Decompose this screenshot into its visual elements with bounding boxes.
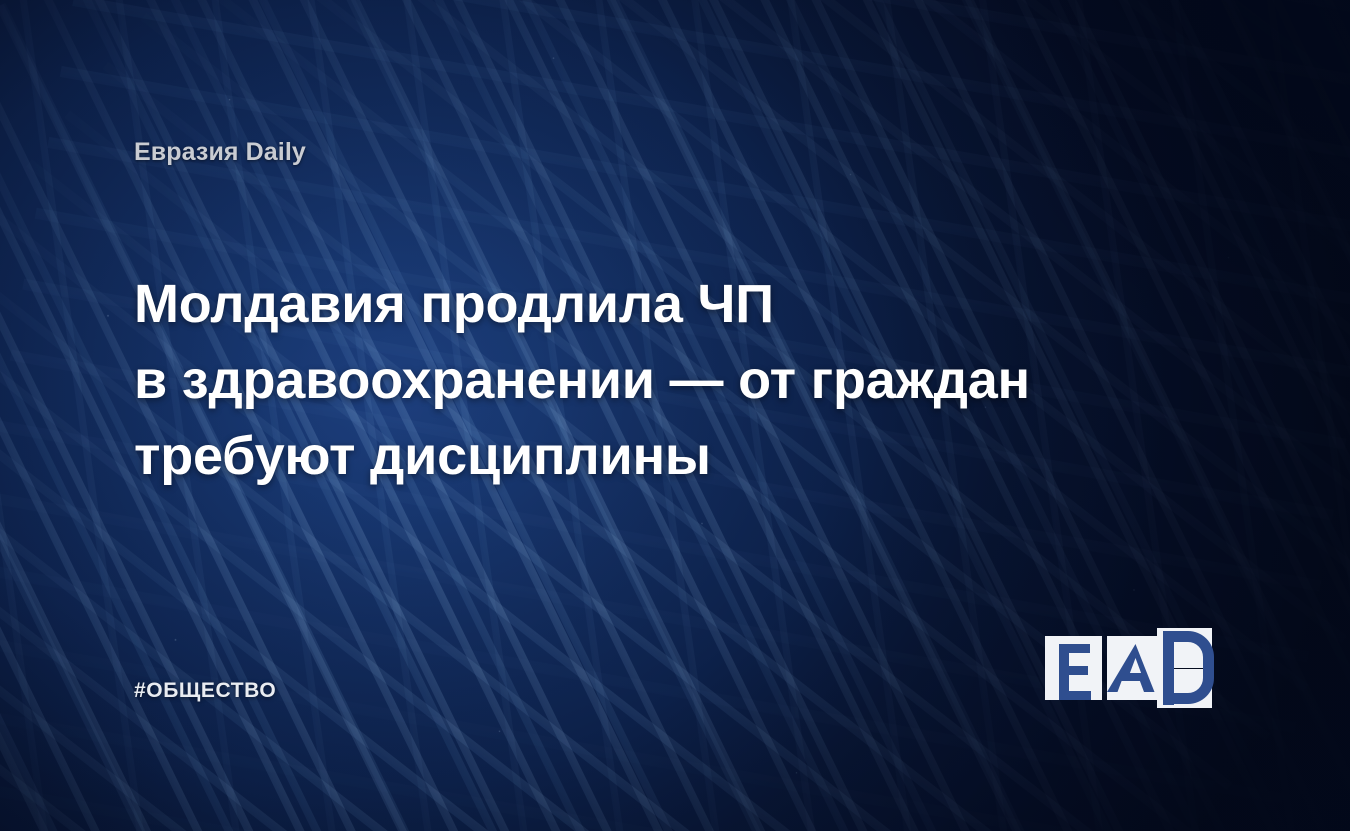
eadaily-logo[interactable] (1045, 628, 1223, 708)
logo-letter-e-icon (1045, 636, 1102, 700)
headline-line-1: Молдавия продлила ЧП (134, 266, 1094, 342)
logo-letter-a-icon (1107, 636, 1164, 700)
headline-line-3: требуют дисциплины (134, 418, 1094, 494)
brand-name: Евразия Daily (134, 138, 306, 167)
news-share-card: Евразия Daily Молдавия продлила ЧП в здр… (0, 0, 1350, 831)
logo-letter-d-bottom-icon (1157, 668, 1229, 709)
card-content: Евразия Daily Молдавия продлила ЧП в здр… (0, 0, 1350, 831)
headline: Молдавия продлила ЧП в здравоохранении —… (134, 266, 1094, 494)
category-tag[interactable]: #ОБЩЕСТВО (134, 679, 276, 703)
headline-line-2: в здравоохранении — от граждан (134, 342, 1094, 418)
logo-letter-d-top-icon (1157, 627, 1229, 669)
